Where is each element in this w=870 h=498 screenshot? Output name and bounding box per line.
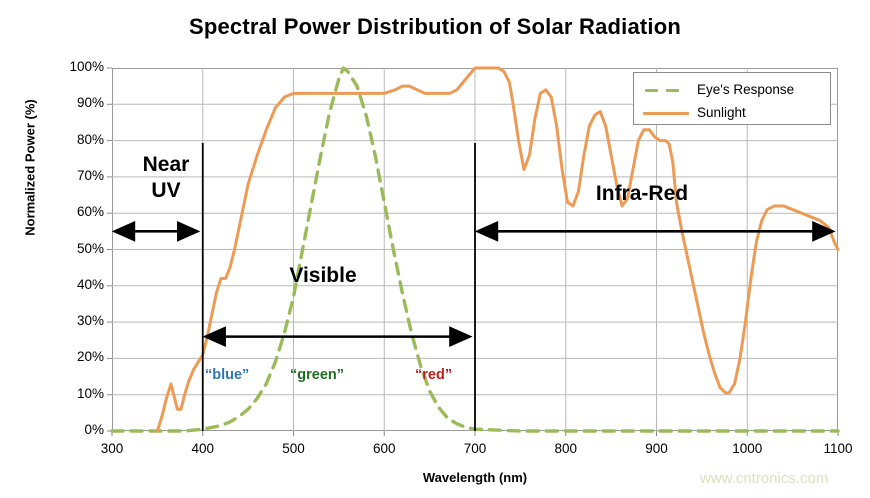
x-tick-label: 700 — [445, 441, 505, 456]
annotation-near-uv-line1: Near — [120, 152, 212, 178]
y-axis-label: Normalized Power (%) — [23, 68, 38, 268]
x-tick-label: 600 — [354, 441, 414, 456]
y-tick-label: 10% — [42, 386, 104, 401]
x-tick-label: 900 — [627, 441, 687, 456]
legend-item-eye-response: Eye's Response — [634, 78, 830, 101]
watermark: www.cntronics.com — [700, 470, 828, 487]
y-tick-label: 90% — [42, 95, 104, 110]
y-tick-label: 60% — [42, 204, 104, 219]
y-tick-label: 100% — [42, 59, 104, 74]
band-label-blue: “blue” — [205, 367, 249, 383]
y-tick-label: 80% — [42, 132, 104, 147]
x-tick-label: 400 — [173, 441, 233, 456]
legend-label-sunlight: Sunlight — [697, 105, 746, 120]
x-tick-label: 500 — [264, 441, 324, 456]
annotation-visible: Visible — [248, 264, 398, 288]
band-label-red: “red” — [415, 367, 452, 383]
annotation-near-uv-line2: UV — [120, 178, 212, 204]
x-tick-label: 800 — [536, 441, 596, 456]
x-tick-label: 1000 — [717, 441, 777, 456]
band-label-green: “green” — [290, 367, 344, 383]
dashed-line-icon — [643, 84, 689, 96]
legend-item-sunlight: Sunlight — [634, 101, 830, 124]
annotation-infra-red: Infra-Red — [556, 182, 728, 206]
chart-page: Spectral Power Distribution of Solar Rad… — [0, 0, 870, 498]
y-tick-label: 20% — [42, 349, 104, 364]
x-tick-label: 1100 — [808, 441, 868, 456]
legend-label-eye-response: Eye's Response — [697, 82, 794, 97]
y-tick-label: 50% — [42, 241, 104, 256]
solid-line-icon — [643, 107, 689, 119]
y-tick-label: 40% — [42, 277, 104, 292]
y-tick-label: 0% — [42, 422, 104, 437]
y-tick-label: 70% — [42, 168, 104, 183]
annotation-near-uv: Near UV — [120, 152, 212, 204]
y-tick-label: 30% — [42, 313, 104, 328]
legend: Eye's Response Sunlight — [633, 72, 831, 125]
x-tick-label: 300 — [82, 441, 142, 456]
